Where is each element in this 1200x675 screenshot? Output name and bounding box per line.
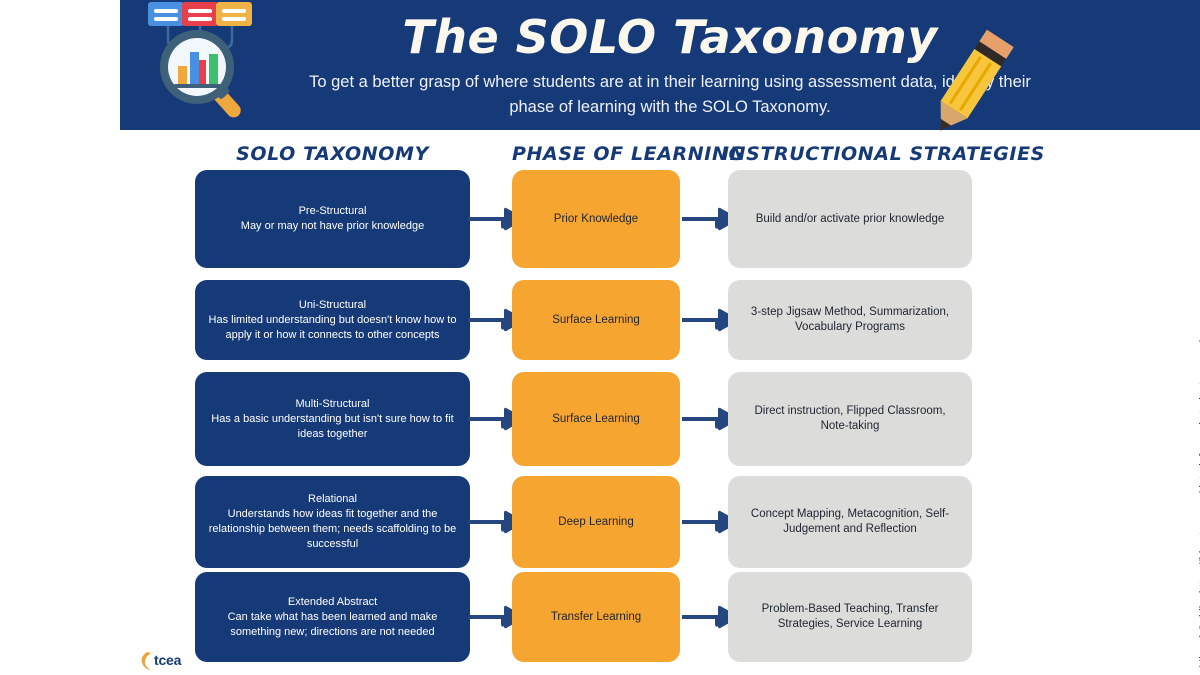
solo-level-text: Extended Abstract Can take what has been…: [207, 595, 458, 640]
header-banner: The SOLO Taxonomy To get a better grasp …: [120, 0, 1200, 130]
strategies-text: Direct instruction, Flipped Classroom, N…: [740, 404, 960, 434]
column-header-phase-of-learning: PHASE OF LEARNING: [512, 143, 680, 165]
solo-level-text: Uni-Structural Has limited understanding…: [207, 298, 458, 343]
strategies-box[interactable]: Direct instruction, Flipped Classroom, N…: [728, 372, 972, 466]
column-header-solo-taxonomy: SOLO TAXONOMY: [195, 143, 470, 165]
strategies-box[interactable]: Build and/or activate prior knowledge: [728, 170, 972, 268]
solo-level-text: Multi-Structural Has a basic understandi…: [207, 397, 458, 442]
phase-text: Prior Knowledge: [554, 212, 638, 227]
phase-text: Transfer Learning: [551, 610, 641, 625]
phase-box[interactable]: Surface Learning: [512, 372, 680, 466]
solo-level-text: Relational Understands how ideas fit tog…: [207, 492, 458, 552]
phase-box[interactable]: Deep Learning: [512, 476, 680, 568]
strategies-box[interactable]: 3-step Jigsaw Method, Summarization, Voc…: [728, 280, 972, 360]
column-header-instructional-strategies: INSTRUCTIONAL STRATEGIES: [722, 143, 972, 165]
solo-level-box[interactable]: Extended Abstract Can take what has been…: [195, 572, 470, 662]
tcea-logo-text: tcea: [154, 652, 181, 668]
strategies-text: 3-step Jigsaw Method, Summarization, Voc…: [740, 305, 960, 335]
phase-text: Surface Learning: [552, 313, 640, 328]
solo-level-text: Pre-Structural May or may not have prior…: [241, 204, 424, 234]
phase-box[interactable]: Surface Learning: [512, 280, 680, 360]
strategies-box[interactable]: Problem-Based Teaching, Transfer Strateg…: [728, 572, 972, 662]
solo-level-box[interactable]: Multi-Structural Has a basic understandi…: [195, 372, 470, 466]
strategies-text: Build and/or activate prior knowledge: [756, 212, 945, 227]
infographic-page: The SOLO Taxonomy To get a better grasp …: [0, 0, 1200, 675]
strategies-box[interactable]: Concept Mapping, Metacognition, Self-Jud…: [728, 476, 972, 568]
phase-box[interactable]: Transfer Learning: [512, 572, 680, 662]
pencil-icon: [920, 22, 1025, 142]
strategies-text: Concept Mapping, Metacognition, Self-Jud…: [740, 507, 960, 537]
phase-box[interactable]: Prior Knowledge: [512, 170, 680, 268]
phase-text: Deep Learning: [558, 515, 633, 530]
magnifier-chart-icon: [140, 0, 260, 125]
strategies-text: Problem-Based Teaching, Transfer Strateg…: [740, 602, 960, 632]
solo-level-box[interactable]: Uni-Structural Has limited understanding…: [195, 280, 470, 360]
phase-text: Surface Learning: [552, 412, 640, 427]
solo-level-box[interactable]: Relational Understands how ideas fit tog…: [195, 476, 470, 568]
tcea-logo[interactable]: tcea: [138, 650, 198, 672]
solo-level-box[interactable]: Pre-Structural May or may not have prior…: [195, 170, 470, 268]
